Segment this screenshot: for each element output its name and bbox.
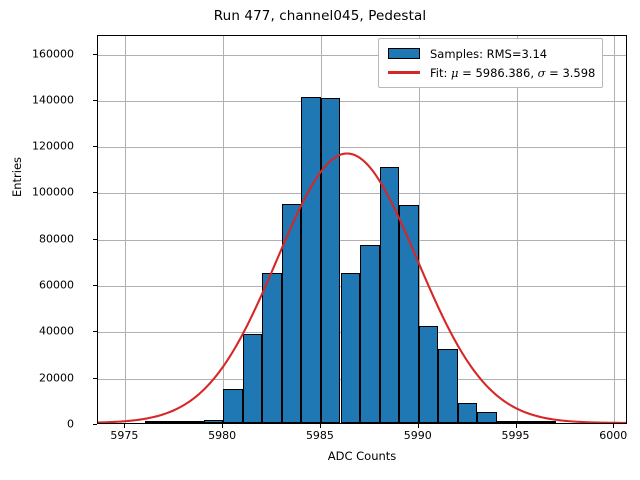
y-tick-label: 120000	[32, 140, 74, 153]
histogram-figure: Run 477, channel045, Pedestal 0200004000…	[0, 0, 640, 480]
y-axis-label: Entries	[10, 97, 24, 257]
plot-area	[97, 35, 627, 424]
chart-legend: Samples: RMS=3.14 Fit: μ = 5986.386, σ =…	[378, 38, 603, 88]
x-tick-label: 6000	[599, 429, 627, 442]
x-tick-label: 5980	[208, 429, 236, 442]
x-tick-label: 5995	[502, 429, 530, 442]
y-tick-mark	[93, 424, 97, 425]
y-tick-mark	[93, 285, 97, 286]
y-tick-label: 160000	[32, 47, 74, 60]
x-tick-mark	[516, 424, 517, 428]
x-tick-label: 5975	[110, 429, 138, 442]
x-tick-mark	[613, 424, 614, 428]
y-tick-mark	[93, 100, 97, 101]
legend-label-fit: Fit: μ = 5986.386, σ = 3.598	[430, 66, 595, 80]
x-axis-label: ADC Counts	[97, 449, 627, 463]
y-tick-mark	[93, 378, 97, 379]
bar-swatch-icon	[385, 48, 423, 59]
y-tick-label: 100000	[32, 186, 74, 199]
y-tick-mark	[93, 239, 97, 240]
gaussian-fit-curve	[98, 36, 626, 423]
legend-label-samples: Samples: RMS=3.14	[430, 47, 547, 61]
y-tick-label: 20000	[39, 371, 74, 384]
x-tick-mark	[124, 424, 125, 428]
chart-title: Run 477, channel045, Pedestal	[0, 8, 640, 24]
y-tick-label: 0	[67, 418, 74, 431]
line-swatch-icon	[385, 71, 423, 73]
y-tick-mark	[93, 192, 97, 193]
y-tick-label: 80000	[39, 232, 74, 245]
y-tick-mark	[93, 331, 97, 332]
x-tick-label: 5990	[404, 429, 432, 442]
x-tick-mark	[222, 424, 223, 428]
y-tick-label: 40000	[39, 325, 74, 338]
legend-item-samples: Samples: RMS=3.14	[385, 44, 595, 63]
y-tick-mark	[93, 146, 97, 147]
x-tick-mark	[320, 424, 321, 428]
x-tick-label: 5985	[306, 429, 334, 442]
y-tick-label: 140000	[32, 93, 74, 106]
y-tick-label: 60000	[39, 279, 74, 292]
x-tick-mark	[418, 424, 419, 428]
legend-item-fit: Fit: μ = 5986.386, σ = 3.598	[385, 63, 595, 82]
y-tick-mark	[93, 54, 97, 55]
